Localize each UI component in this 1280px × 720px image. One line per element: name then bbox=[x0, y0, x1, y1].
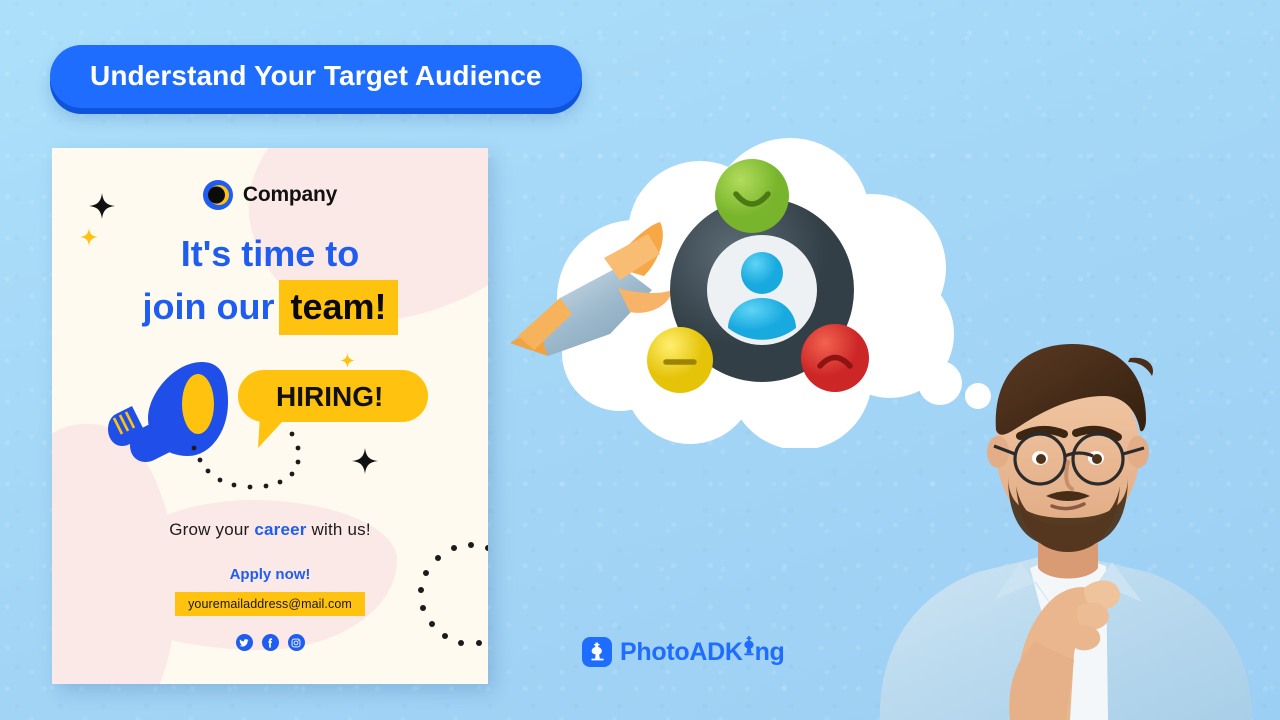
screenshot-canvas: Understand Your Target Audience bbox=[0, 0, 1280, 720]
headline-line-1: It's time to bbox=[181, 233, 360, 274]
thinking-man-photo bbox=[860, 300, 1280, 720]
photoadking-text-part2: ng bbox=[755, 638, 785, 667]
photoadking-watermark: PhotoADK ng bbox=[582, 636, 785, 667]
poster-tagline: Grow your career with us! bbox=[52, 520, 488, 540]
contact-email[interactable]: youremailaddress@mail.com bbox=[175, 592, 365, 616]
title-banner: Understand Your Target Audience bbox=[50, 45, 582, 108]
poster-brand: Company bbox=[52, 180, 488, 210]
megaphone-illustration: HIRING! bbox=[70, 356, 470, 496]
instagram-icon[interactable] bbox=[288, 634, 305, 651]
chess-king-icon bbox=[582, 637, 612, 667]
hiring-bubble-label: HIRING! bbox=[276, 381, 383, 412]
poster-headline: It's time to join ourteam! bbox=[52, 230, 488, 335]
headline-highlight: team! bbox=[279, 280, 397, 336]
title-banner-text: Understand Your Target Audience bbox=[90, 61, 542, 90]
company-circle-logo-icon bbox=[203, 180, 233, 210]
tagline-after: with us! bbox=[312, 520, 371, 539]
company-name-label: Company bbox=[243, 183, 337, 207]
tagline-emphasis: career bbox=[254, 520, 306, 539]
headline-line-2: join ourteam! bbox=[52, 280, 488, 336]
hiring-poster-card[interactable]: Company It's time to join ourteam! bbox=[52, 148, 488, 684]
megaphone-icon: HIRING! bbox=[70, 356, 470, 496]
dotted-circle-icon bbox=[416, 540, 488, 650]
photoadking-wordmark: PhotoADK ng bbox=[620, 636, 785, 667]
headline-line-2-prefix: join our bbox=[142, 286, 274, 327]
twitter-icon[interactable] bbox=[236, 634, 253, 651]
photoadking-text-part1: PhotoADK bbox=[620, 638, 743, 667]
title-banner-pill: Understand Your Target Audience bbox=[50, 45, 582, 108]
chess-king-i-icon bbox=[743, 636, 755, 660]
thinking-man-illustration bbox=[860, 300, 1280, 720]
facebook-icon[interactable] bbox=[262, 634, 279, 651]
tagline-before: Grow your bbox=[169, 520, 249, 539]
